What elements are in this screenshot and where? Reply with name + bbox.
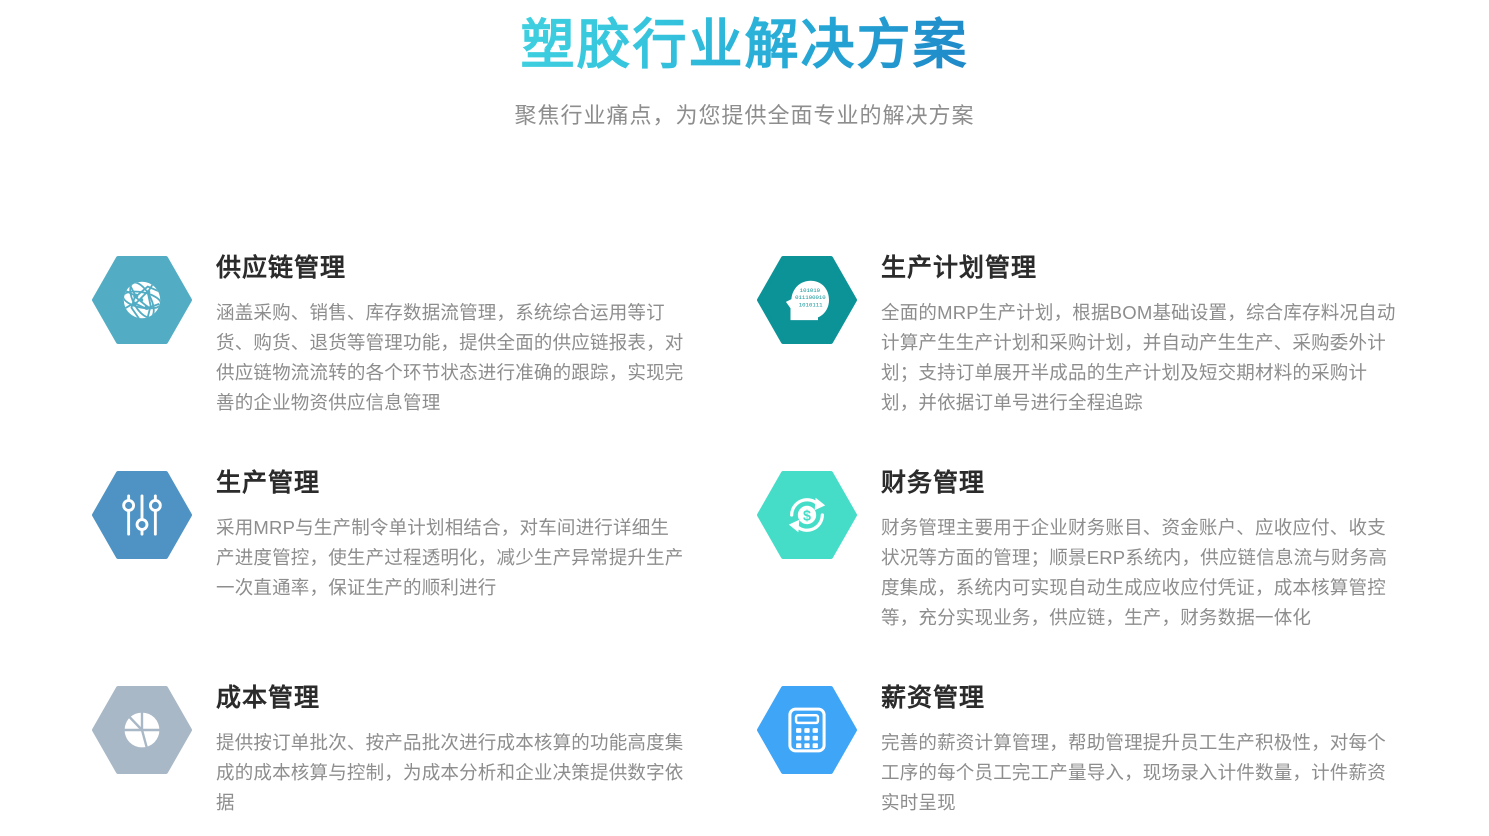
solution-page: 塑胶行业解决方案 聚焦行业痛点，为您提供全面专业的解决方案 [0, 0, 1489, 836]
pie-chart-icon [92, 686, 192, 774]
page-header: 塑胶行业解决方案 聚焦行业痛点，为您提供全面专业的解决方案 [0, 0, 1489, 130]
solution-card-production-plan[interactable]: 101010 011100010 1010111 生产计划管理 全面的MRP生产… [757, 240, 1397, 455]
card-body: 薪资管理 完善的薪资计算管理，帮助管理提升员工生产积极性，对每个工序的每个员工完… [881, 670, 1397, 818]
hex-badge: 101010 011100010 1010111 [757, 256, 857, 344]
card-title: 供应链管理 [216, 248, 732, 284]
card-description: 完善的薪资计算管理，帮助管理提升员工生产积极性，对每个工序的每个员工完工产量导入… [881, 728, 1397, 818]
card-body: 生产管理 采用MRP与生产制令单计划相结合，对车间进行详细生产进度管控，使生产过… [216, 455, 732, 603]
card-title: 成本管理 [216, 678, 732, 714]
sliders-icon [92, 471, 192, 559]
solution-card-cost[interactable]: 成本管理 提供按订单批次、按产品批次进行成本核算的功能高度集成的成本核算与控制，… [92, 670, 732, 836]
solution-card-grid: 供应链管理 涵盖采购、销售、库存数据流管理，系统综合运用等订货、购货、退货等管理… [0, 240, 1489, 836]
card-title: 财务管理 [881, 463, 1397, 499]
calculator-icon [757, 686, 857, 774]
hex-badge [92, 471, 192, 559]
solution-card-finance[interactable]: $ 财务管理 财务管理主要用于企业财务账目、资金账户、应收应付、收支状况等方面的… [757, 455, 1397, 670]
card-body: 成本管理 提供按订单批次、按产品批次进行成本核算的功能高度集成的成本核算与控制，… [216, 670, 732, 818]
svg-text:101010: 101010 [800, 287, 821, 294]
card-description: 财务管理主要用于企业财务账目、资金账户、应收应付、收支状况等方面的管理；顺景ER… [881, 513, 1397, 633]
card-body: 供应链管理 涵盖采购、销售、库存数据流管理，系统综合运用等订货、购货、退货等管理… [216, 240, 732, 418]
svg-text:$: $ [803, 508, 811, 524]
hex-badge [757, 686, 857, 774]
svg-text:011100010: 011100010 [795, 294, 826, 301]
card-body: 生产计划管理 全面的MRP生产计划，根据BOM基础设置，综合库存料况自动计算产生… [881, 240, 1397, 418]
hex-badge [92, 686, 192, 774]
hex-badge [92, 256, 192, 344]
network-globe-icon [92, 256, 192, 344]
card-description: 提供按订单批次、按产品批次进行成本核算的功能高度集成的成本核算与控制，为成本分析… [216, 728, 684, 818]
card-title: 生产计划管理 [881, 248, 1397, 284]
solution-card-production[interactable]: 生产管理 采用MRP与生产制令单计划相结合，对车间进行详细生产进度管控，使生产过… [92, 455, 732, 670]
solution-card-supply-chain[interactable]: 供应链管理 涵盖采购、销售、库存数据流管理，系统综合运用等订货、购货、退货等管理… [92, 240, 732, 455]
svg-text:1010111: 1010111 [799, 301, 823, 308]
card-body: 财务管理 财务管理主要用于企业财务账目、资金账户、应收应付、收支状况等方面的管理… [881, 455, 1397, 633]
card-description: 涵盖采购、销售、库存数据流管理，系统综合运用等订货、购货、退货等管理功能，提供全… [216, 298, 684, 418]
card-title: 薪资管理 [881, 678, 1397, 714]
card-description: 全面的MRP生产计划，根据BOM基础设置，综合库存料况自动计算产生生产计划和采购… [881, 298, 1397, 418]
solution-card-payroll[interactable]: 薪资管理 完善的薪资计算管理，帮助管理提升员工生产积极性，对每个工序的每个员工完… [757, 670, 1397, 836]
hex-badge: $ [757, 471, 857, 559]
card-description: 采用MRP与生产制令单计划相结合，对车间进行详细生产进度管控，使生产过程透明化，… [216, 513, 684, 603]
page-subtitle: 聚焦行业痛点，为您提供全面专业的解决方案 [0, 98, 1489, 130]
binary-head-icon: 101010 011100010 1010111 [757, 256, 857, 344]
card-title: 生产管理 [216, 463, 732, 499]
page-title: 塑胶行业解决方案 [521, 14, 969, 78]
dollar-refresh-icon: $ [757, 471, 857, 559]
